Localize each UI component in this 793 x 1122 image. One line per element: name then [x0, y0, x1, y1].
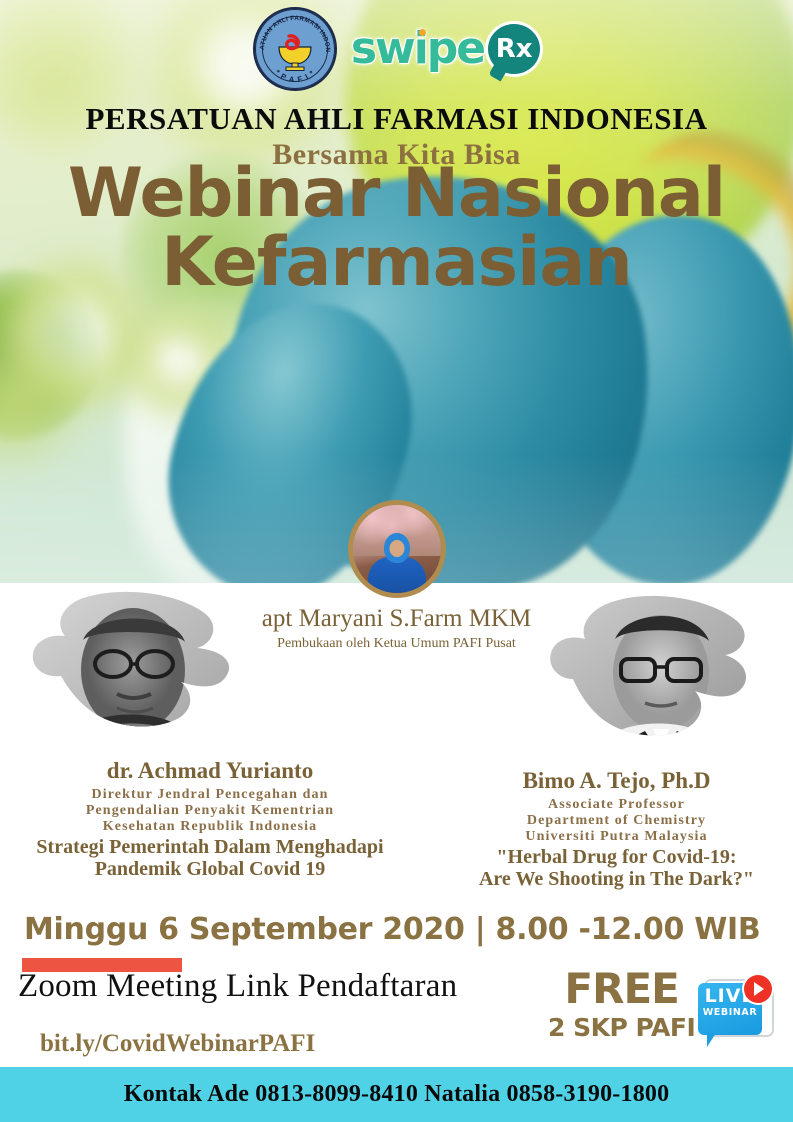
speaker-topic: Strategi Pemerintah Dalam Menghadapi Pan…: [0, 837, 420, 880]
center-speaker-subtitle: Pembukaan oleh Ketua Umum PAFI Pusat: [0, 636, 793, 652]
avatar-person: [366, 533, 428, 597]
speaker-topic: "Herbal Drug for Covid-19: Are We Shooti…: [440, 847, 793, 890]
webinar-poster: PERSATUAN AHLI FARMASI INDONESIA * P A F…: [0, 0, 793, 1122]
registration-link[interactable]: bit.ly/CovidWebinarPAFI: [40, 1030, 315, 1058]
speaker-role-line: Direktur Jendral Pencegahan dan: [0, 787, 420, 803]
page-title: Webinar Nasional Kefarmasian: [0, 162, 793, 295]
rx-bubble-icon: Rx: [488, 24, 540, 74]
speaker-name: dr. Achmad Yurianto: [0, 758, 420, 784]
speaker-role: Associate Professor Department of Chemis…: [440, 797, 793, 845]
avatar-body: [368, 557, 426, 598]
rx-label: Rx: [496, 36, 533, 62]
speaker-role-line: Department of Chemistry: [440, 813, 793, 829]
speaker-role-line: Kesehatan Republik Indonesia: [0, 819, 420, 835]
badge-speech-tail: [707, 1033, 716, 1047]
swipe-i-dot-icon: [419, 29, 426, 36]
center-speaker-name: apt Maryani S.Farm MKM: [0, 605, 793, 633]
logo-row: PERSATUAN AHLI FARMASI INDONESIA * P A F…: [0, 6, 793, 92]
speaker-role-line: Universiti Putra Malaysia: [440, 829, 793, 845]
swipe-wordmark: swipe: [351, 27, 484, 71]
bowl-of-hygieia-icon: [273, 31, 317, 71]
center-speaker-block: apt Maryani S.Farm MKM Pembukaan oleh Ke…: [0, 500, 793, 652]
live-webinar-badge-icon: LIVE WEBINAR: [698, 975, 776, 1051]
speaker-topic-line: "Herbal Drug for Covid-19:: [440, 847, 793, 869]
avatar: [348, 500, 446, 598]
speaker-role: Direktur Jendral Pencegahan dan Pengenda…: [0, 787, 420, 835]
speaker-info-left: dr. Achmad Yurianto Direktur Jendral Pen…: [0, 758, 420, 880]
platform-registration-label: Zoom Meeting Link Pendaftaran: [18, 968, 457, 1005]
avatar-face: [389, 540, 404, 557]
speaker-name: Bimo A. Tejo, Ph.D: [440, 768, 793, 794]
contact-text: Kontak Ade 0813-8099-8410 Natalia 0858-3…: [124, 1081, 670, 1108]
event-datetime: Minggu 6 September 2020 | 8.00 -12.00 WI…: [24, 912, 760, 947]
price-block: FREE 2 SKP PAFI: [548, 968, 695, 1042]
price-label: FREE: [548, 968, 695, 1010]
speaker-role-line: Associate Professor: [440, 797, 793, 813]
pafi-logo-icon: PERSATUAN AHLI FARMASI INDONESIA * P A F…: [253, 7, 337, 91]
speaker-info-right: Bimo A. Tejo, Ph.D Associate Professor D…: [440, 768, 793, 890]
speaker-topic-line: Are We Shooting in The Dark?": [440, 869, 793, 891]
play-button-icon: [744, 975, 772, 1003]
organization-title: PERSATUAN AHLI FARMASI INDONESIA: [0, 101, 793, 137]
main-title-line1: Webinar Nasional: [0, 162, 793, 227]
speaker-topic-line: Pandemik Global Covid 19: [0, 859, 420, 881]
main-title-line2: Kefarmasian: [0, 231, 793, 296]
contact-bar: Kontak Ade 0813-8099-8410 Natalia 0858-3…: [0, 1067, 793, 1122]
swiperx-logo: swipe Rx: [351, 24, 540, 74]
credits-label: 2 SKP PAFI: [548, 1014, 695, 1042]
speaker-topic-line: Strategi Pemerintah Dalam Menghadapi: [0, 837, 420, 859]
speaker-role-line: Pengendalian Penyakit Kementrian: [0, 803, 420, 819]
badge-webinar-text: WEBINAR: [698, 1008, 762, 1018]
